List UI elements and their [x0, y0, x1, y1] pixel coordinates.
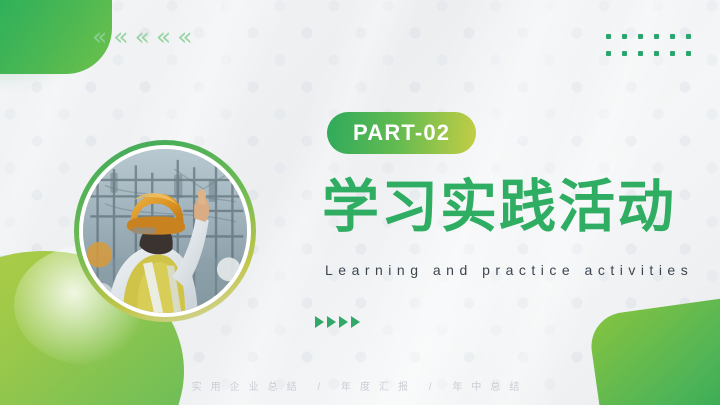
- slide-canvas: « « « « «: [0, 0, 720, 405]
- triangle-right-icon: [327, 316, 336, 328]
- chevron-left-icon: «: [92, 24, 107, 49]
- grid-dot: [606, 51, 611, 56]
- chevron-left-icon: «: [135, 24, 150, 49]
- grid-dot: [638, 51, 643, 56]
- triangle-right-icon: [339, 316, 348, 328]
- chevron-left-icon: «: [177, 24, 192, 49]
- grid-dot: [654, 51, 659, 56]
- footer-caption: 实用企业总结 / 年度汇报 / 年中总结: [0, 378, 720, 393]
- grid-dot: [670, 51, 675, 56]
- triangle-right-icon: [315, 316, 324, 328]
- chevron-left-icon: «: [113, 24, 128, 49]
- worker-photo: [79, 145, 251, 317]
- chevron-left-icon: «: [156, 24, 171, 49]
- grid-dot: [670, 34, 675, 39]
- page-title: 学习实践活动: [322, 176, 676, 239]
- worker-photo-illustration: [83, 149, 247, 313]
- grid-dot: [686, 34, 691, 39]
- dot-grid-decoration: [606, 34, 702, 68]
- grid-dot: [622, 34, 627, 39]
- triangle-right-icon: [351, 316, 360, 328]
- arrow-marker-decoration: [315, 316, 360, 328]
- grid-dot: [654, 34, 659, 39]
- grid-dot: [622, 51, 627, 56]
- grid-dot: [638, 34, 643, 39]
- grid-dot: [686, 51, 691, 56]
- grid-dot: [606, 34, 611, 39]
- page-subtitle: Learning and practice activities: [325, 262, 693, 278]
- circular-photo-frame: [74, 140, 256, 322]
- part-badge[interactable]: PART-02: [327, 112, 476, 154]
- chevron-decoration: « « « « «: [92, 24, 192, 49]
